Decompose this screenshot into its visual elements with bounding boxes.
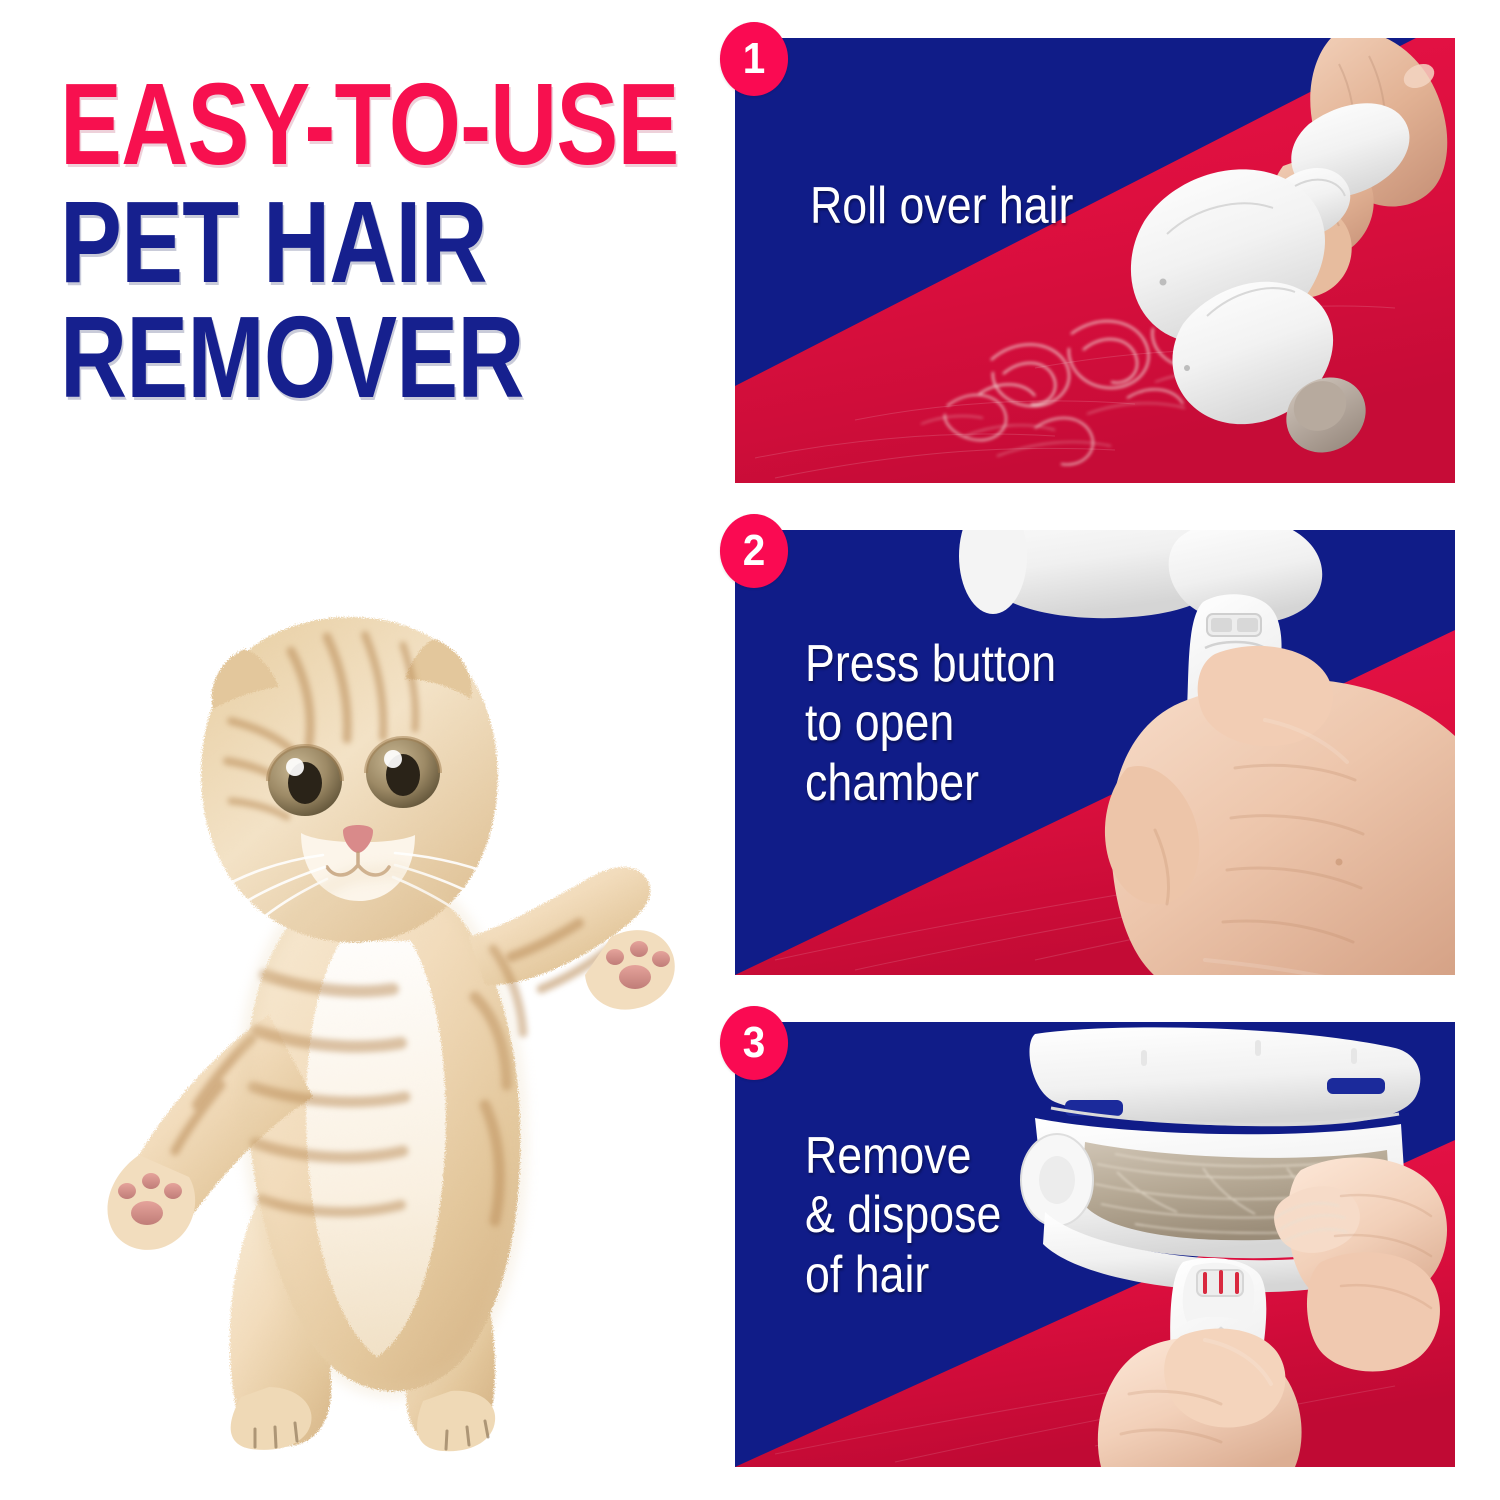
infographic-canvas: EASY-TO-USE PET HAIR REMOVER [0, 0, 1500, 1500]
step-1-number-badge: 1 [720, 22, 788, 96]
step-panel-1: 1 Roll over hair [735, 38, 1455, 483]
step-3-caption: Remove & dispose of hair [805, 1127, 1001, 1305]
step-1-caption: Roll over hair [810, 178, 1073, 234]
step-3-number-badge: 3 [720, 1006, 788, 1080]
page-title: EASY-TO-USE PET HAIR REMOVER [60, 72, 720, 409]
headline-line-3: REMOVER [60, 305, 588, 409]
step-2-caption: Press button to open chamber [805, 635, 1056, 813]
step-2-number-badge: 2 [720, 514, 788, 588]
instruction-steps: 1 Roll over hair [735, 38, 1455, 1467]
step-panel-2: 2 Press button to open chamber [735, 530, 1455, 975]
hero-kitten-photo [55, 545, 695, 1465]
headline-line-1: EASY-TO-USE [60, 72, 588, 176]
step-panel-3: 3 Remove & dispose of hair [735, 1022, 1455, 1467]
headline-line-2: PET HAIR [60, 190, 588, 294]
step-1-image [735, 38, 1455, 483]
